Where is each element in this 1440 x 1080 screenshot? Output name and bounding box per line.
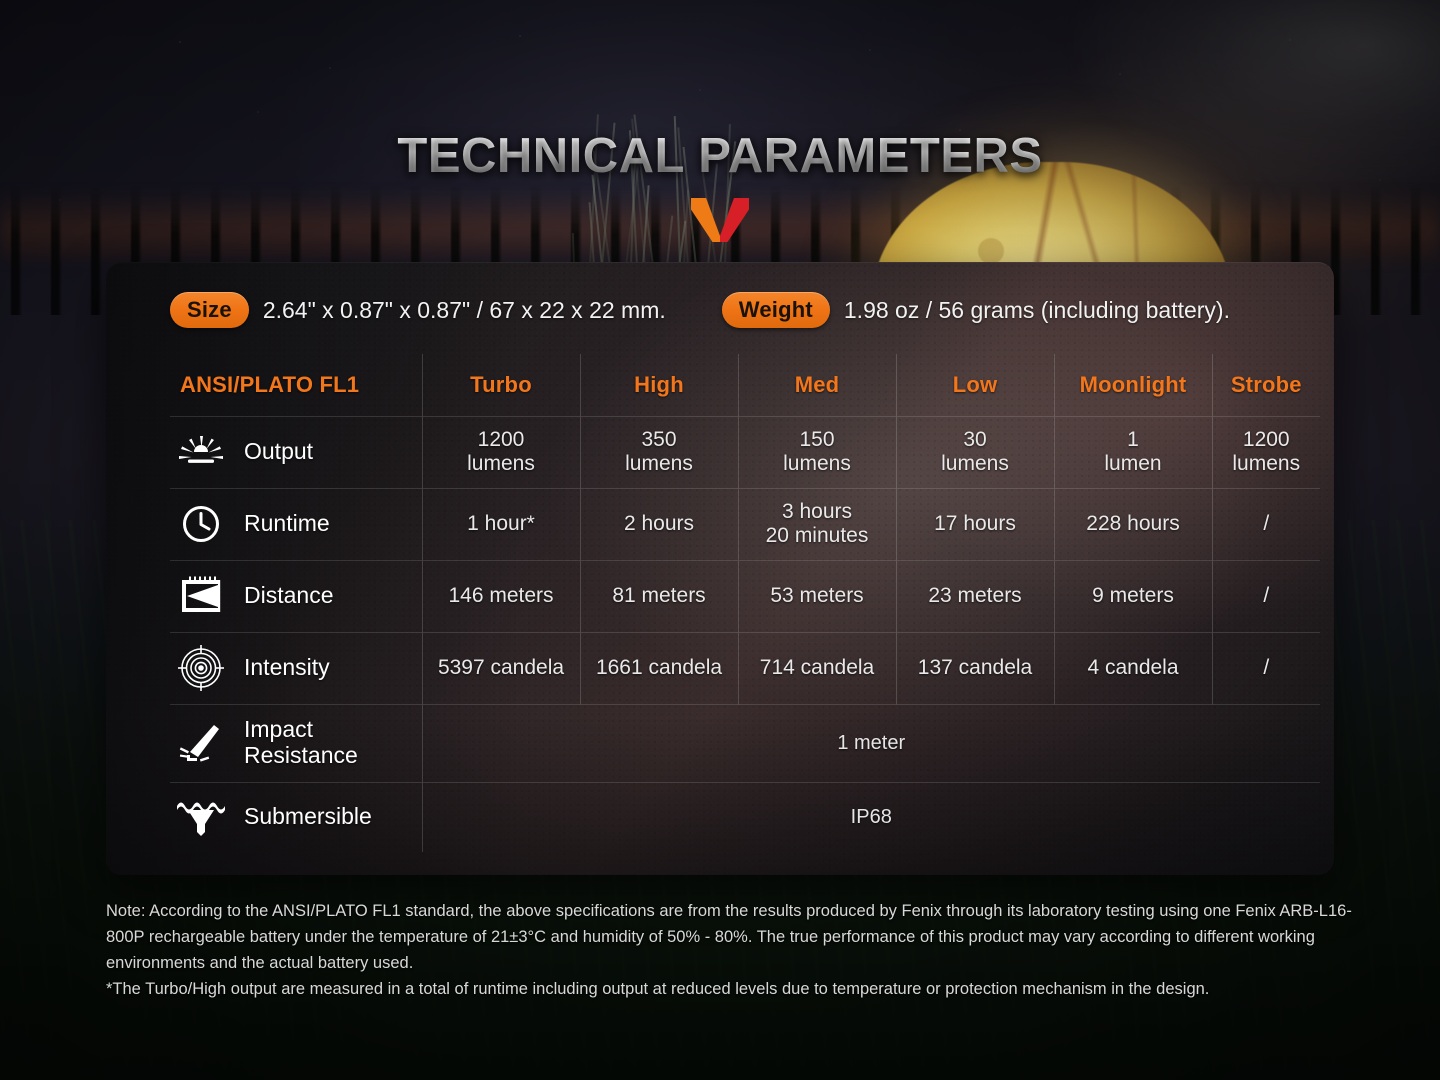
- size-value: 2.64" x 0.87" x 0.87" / 67 x 22 x 22 mm.: [263, 297, 666, 324]
- footnote-line-1: Note: According to the ANSI/PLATO FL1 st…: [106, 898, 1364, 976]
- header-ansi-plato: ANSI/PLATO FL1: [170, 354, 422, 416]
- cell-output-strobe: 1200lumens: [1212, 416, 1320, 488]
- table-header-row: ANSI/PLATO FL1 Turbo High Med Low Moonli…: [170, 354, 1320, 416]
- page-title: TECHNICAL PARAMETERS: [397, 128, 1042, 184]
- cell-distance-turbo: 146 meters: [422, 560, 580, 632]
- header-strobe: Strobe: [1212, 354, 1320, 416]
- chevron-left-half: [691, 198, 720, 242]
- table-row-intensity: Intensity 5397 candela 1661 candela 714 …: [170, 632, 1320, 704]
- cell-distance-high: 81 meters: [580, 560, 738, 632]
- row-label-text-distance: Distance: [244, 583, 333, 609]
- row-label-impact-resistance: Impact Resistance: [170, 704, 422, 782]
- submersible-icon: [172, 794, 230, 840]
- table-row-distance: Distance 146 meters 81 meters 53 meters …: [170, 560, 1320, 632]
- cell-distance-strobe: /: [1212, 560, 1320, 632]
- ruler-distance-icon: [172, 573, 230, 619]
- row-label-text-output: Output: [244, 439, 313, 465]
- clock-icon: [172, 501, 230, 547]
- cell-output-high: 350lumens: [580, 416, 738, 488]
- row-label-distance: Distance: [170, 560, 422, 632]
- row-label-runtime: Runtime: [170, 488, 422, 560]
- page-root: TECHNICAL PARAMETERS Size 2.64" x 0.87" …: [0, 0, 1440, 1080]
- row-label-intensity: Intensity: [170, 632, 422, 704]
- cell-intensity-med: 714 candela: [738, 632, 896, 704]
- cell-runtime-high: 2 hours: [580, 488, 738, 560]
- row-label-text-submersible: Submersible: [244, 804, 372, 830]
- cell-output-med: 150lumens: [738, 416, 896, 488]
- footnote-block: Note: According to the ANSI/PLATO FL1 st…: [106, 898, 1364, 1002]
- title-block: TECHNICAL PARAMETERS: [0, 128, 1440, 242]
- cell-runtime-moonlight: 228 hours: [1054, 488, 1212, 560]
- row-label-output: Output: [170, 416, 422, 488]
- cell-output-moonlight: 1lumen: [1054, 416, 1212, 488]
- table-row-output: Output 1200lumens 350lumens 150lumens 30…: [170, 416, 1320, 488]
- row-label-submersible: Submersible: [170, 782, 422, 852]
- table-row-impact-resistance: Impact Resistance 1 meter: [170, 704, 1320, 782]
- header-high: High: [580, 354, 738, 416]
- weight-value: 1.98 oz / 56 grams (including battery).: [844, 297, 1230, 324]
- cell-distance-med: 53 meters: [738, 560, 896, 632]
- size-spec: Size 2.64" x 0.87" x 0.87" / 67 x 22 x 2…: [170, 292, 666, 328]
- cell-runtime-turbo: 1 hour*: [422, 488, 580, 560]
- cell-intensity-moonlight: 4 candela: [1054, 632, 1212, 704]
- cell-distance-low: 23 meters: [896, 560, 1054, 632]
- cell-output-low: 30lumens: [896, 416, 1054, 488]
- spec-panel: Size 2.64" x 0.87" x 0.87" / 67 x 22 x 2…: [106, 262, 1334, 875]
- header-turbo: Turbo: [422, 354, 580, 416]
- chevron-right-half: [720, 198, 749, 242]
- row-label-text-intensity: Intensity: [244, 655, 330, 681]
- cell-intensity-strobe: /: [1212, 632, 1320, 704]
- weight-spec: Weight 1.98 oz / 56 grams (including bat…: [722, 292, 1230, 328]
- parameters-table: ANSI/PLATO FL1 Turbo High Med Low Moonli…: [170, 354, 1320, 852]
- cell-runtime-med: 3 hours20 minutes: [738, 488, 896, 560]
- cell-intensity-low: 137 candela: [896, 632, 1054, 704]
- table-row-submersible: Submersible IP68: [170, 782, 1320, 852]
- header-moonlight: Moonlight: [1054, 354, 1212, 416]
- header-med: Med: [738, 354, 896, 416]
- table-row-runtime: Runtime 1 hour* 2 hours 3 hours20 minute…: [170, 488, 1320, 560]
- sunburst-icon: [172, 429, 230, 475]
- impact-resistance-icon: [172, 720, 230, 766]
- cell-intensity-turbo: 5397 candela: [422, 632, 580, 704]
- cell-distance-moonlight: 9 meters: [1054, 560, 1212, 632]
- cell-submersible-value: IP68: [422, 782, 1320, 852]
- cell-output-turbo: 1200lumens: [422, 416, 580, 488]
- cell-impact-resistance-value: 1 meter: [422, 704, 1320, 782]
- target-intensity-icon: [172, 645, 230, 691]
- size-weight-strip: Size 2.64" x 0.87" x 0.87" / 67 x 22 x 2…: [170, 262, 1270, 354]
- row-label-text-runtime: Runtime: [244, 511, 330, 537]
- cell-intensity-high: 1661 candela: [580, 632, 738, 704]
- header-low: Low: [896, 354, 1054, 416]
- weight-badge: Weight: [722, 292, 830, 328]
- chevron-down-icon: [691, 198, 749, 242]
- cell-runtime-strobe: /: [1212, 488, 1320, 560]
- footnote-line-2: *The Turbo/High output are measured in a…: [106, 976, 1364, 1002]
- cell-runtime-low: 17 hours: [896, 488, 1054, 560]
- size-badge: Size: [170, 292, 249, 328]
- row-label-text-impact: Impact Resistance: [244, 717, 358, 769]
